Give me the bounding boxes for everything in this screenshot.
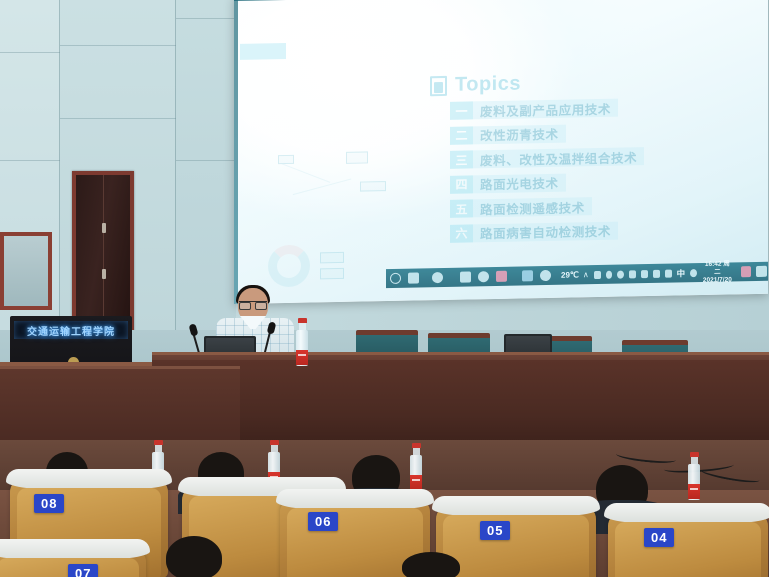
wall-window (0, 232, 52, 310)
list-item: 五 路面检测遥感技术 (450, 196, 644, 218)
topic-label: 废料、改性及温拌组合技术 (473, 147, 644, 168)
browser-icon[interactable] (478, 271, 489, 282)
list-item: 二 改性沥青技术 (450, 123, 644, 145)
topic-number: 三 (450, 150, 473, 168)
wall-seam (60, 118, 176, 119)
shield-icon[interactable] (606, 270, 613, 278)
seat-number-badge: 08 (34, 494, 64, 513)
bottle-neck (413, 448, 420, 455)
app-icon[interactable] (522, 270, 533, 281)
slide-topic-list: 一 废料及副产品应用技术 二 改性沥青技术 三 废料、改性及温拌组合技术 四 路… (450, 98, 644, 249)
wall-seam (0, 52, 60, 53)
seat-07-front[interactable]: 07 (0, 548, 146, 577)
audience-head (402, 552, 460, 577)
slide-topics-header: Topics (430, 72, 521, 97)
bottle-label (410, 475, 422, 490)
slide-ghost-diagram-top (272, 145, 382, 217)
bottle-neck (271, 445, 278, 452)
list-item: 三 废料、改性及温拌组合技术 (450, 147, 644, 169)
podium-sign-text: 交通运输工程学院 (27, 323, 115, 338)
slide-title: Topics (455, 72, 521, 96)
notify-pink-icon[interactable] (741, 266, 752, 277)
seat-number-badge: 05 (480, 521, 510, 540)
list-item: 六 路面病害自动检测技术 (450, 221, 644, 243)
weather-temperature[interactable]: 29℃ (561, 270, 579, 279)
topic-label: 改性沥青技术 (473, 124, 566, 144)
onedrive-icon[interactable] (594, 270, 601, 278)
door-split (103, 175, 104, 333)
topic-number: 四 (450, 175, 473, 193)
clock-date: 2021/7/20 (702, 276, 733, 285)
room-door[interactable] (72, 171, 134, 333)
display-icon[interactable] (641, 270, 648, 278)
topic-number: 一 (450, 101, 473, 119)
keyboard-icon[interactable] (653, 269, 660, 277)
clipboard-icon (430, 75, 447, 95)
seat-number-badge: 07 (68, 564, 98, 577)
wall-seam (60, 45, 176, 46)
volume-icon[interactable] (617, 270, 624, 278)
wall-seam (176, 18, 236, 19)
seat-05[interactable]: 05 (436, 505, 596, 577)
topic-label: 路面病害自动检测技术 (473, 221, 618, 242)
seat-number-badge: 04 (644, 528, 674, 547)
app-blue-icon[interactable] (540, 270, 551, 281)
seat-04[interactable]: 04 (608, 512, 768, 577)
screen-left-edge (234, 0, 238, 304)
bottle-label (296, 350, 308, 365)
water-bottle (296, 318, 308, 366)
input-icon[interactable] (690, 269, 697, 277)
explorer-icon[interactable] (432, 272, 443, 283)
clock-time: 16:42 周二 (702, 260, 733, 277)
seat-back (615, 522, 761, 577)
seat-back (443, 515, 589, 577)
door-handle-icon[interactable] (102, 269, 106, 279)
water-bottle (688, 452, 700, 500)
door-handle-icon[interactable] (102, 223, 106, 233)
cortana-circle-icon[interactable] (390, 273, 401, 284)
door-leaf (76, 175, 130, 333)
task-view-icon[interactable] (408, 272, 419, 283)
podium-sign: 交通运输工程学院 (14, 321, 128, 339)
seat-number-badge: 06 (308, 512, 338, 531)
wall-seam (0, 160, 60, 161)
slide-ghost-tag (240, 43, 286, 60)
stage-desk-front (152, 360, 769, 452)
list-item: 一 废料及副产品应用技术 (450, 98, 644, 120)
projection-screen: Topics 一 废料及副产品应用技术 二 改性沥青技术 三 废料、改性及温拌组… (234, 0, 768, 304)
bottle-label (688, 484, 700, 499)
topic-label: 路面光电技术 (473, 173, 566, 193)
wall-seam (176, 160, 236, 161)
audience-head (166, 536, 222, 577)
bottle-neck (691, 457, 698, 464)
topic-label: 废料及副产品应用技术 (473, 99, 618, 120)
taskbar-left-group[interactable]: 29℃ (390, 269, 579, 284)
clock[interactable]: 16:42 周二 2021/7/20 (702, 260, 736, 285)
topic-number: 二 (450, 126, 473, 144)
chevron-up-icon[interactable]: ∧ (583, 270, 589, 279)
ime-indicator[interactable]: 中 (677, 267, 686, 279)
folder-icon[interactable] (460, 271, 471, 282)
list-item: 四 路面光电技术 (450, 172, 644, 194)
system-tray[interactable]: ∧ 中 16:42 周二 2021/7/20 (579, 259, 767, 287)
media-icon[interactable] (496, 271, 507, 282)
topic-label: 路面检测遥感技术 (473, 197, 592, 217)
topic-number: 六 (450, 224, 473, 242)
lecture-hall-scene: Topics 一 废料及副产品应用技术 二 改性沥青技术 三 废料、改性及温拌组… (0, 0, 769, 577)
bottle-neck (155, 445, 162, 452)
bottle-neck (299, 323, 306, 330)
battery-icon[interactable] (629, 270, 636, 278)
water-bottle (410, 443, 422, 491)
glasses-icon (239, 301, 267, 307)
network-icon[interactable] (665, 269, 672, 277)
topic-number: 五 (450, 199, 473, 217)
notify-box-icon[interactable] (756, 266, 767, 277)
